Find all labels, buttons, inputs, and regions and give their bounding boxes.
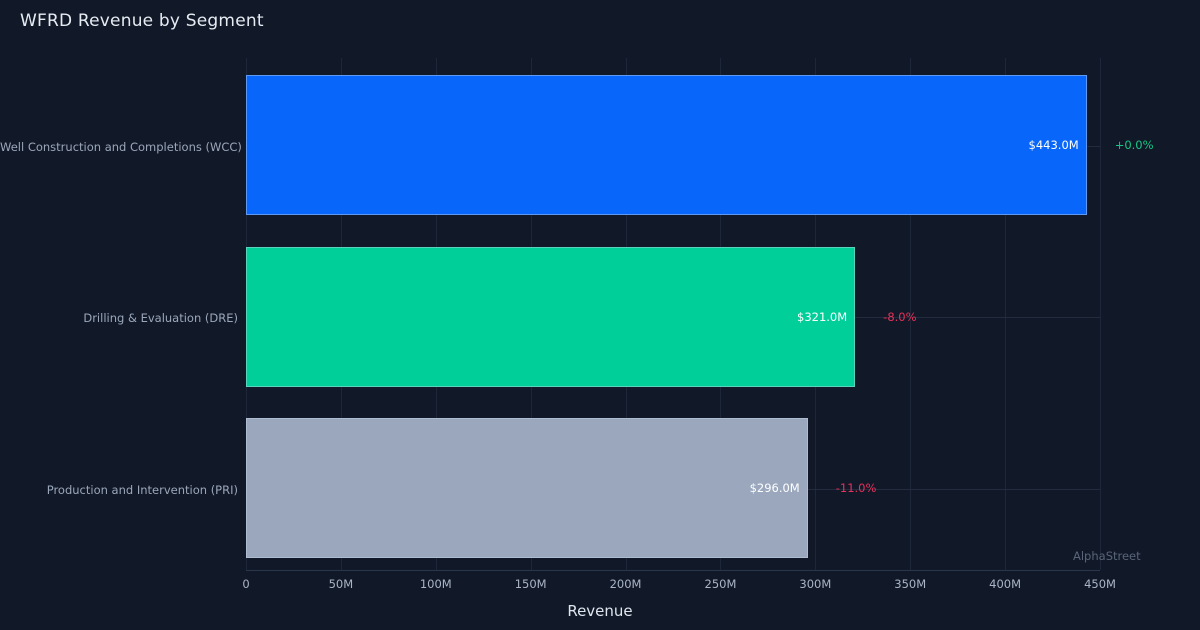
bar-change-label-2: -11.0% (836, 481, 877, 495)
watermark: AlphaStreet (1073, 549, 1141, 563)
y-axis-label-0: Well Construction and Completions (WCC) (0, 140, 238, 154)
x-tick-label-1: 50M (329, 577, 354, 591)
vertical-gridline-9 (1100, 58, 1101, 570)
x-tick-label-2: 100M (420, 577, 452, 591)
x-tick-label-7: 350M (894, 577, 926, 591)
bar-dre[interactable] (246, 247, 855, 387)
x-tick-label-5: 250M (705, 577, 737, 591)
x-tick-label-0: 0 (242, 577, 249, 591)
bar-value-label-2: $296.0M (750, 481, 800, 495)
bar-pri[interactable] (246, 418, 808, 558)
bar-change-label-1: -8.0% (883, 310, 916, 324)
bar-value-label-0: $443.0M (1029, 138, 1079, 152)
x-axis-title: Revenue (0, 602, 1200, 620)
x-tick-label-3: 150M (515, 577, 547, 591)
x-axis-line (246, 570, 1100, 571)
bar-change-label-0: +0.0% (1115, 138, 1154, 152)
y-axis-label-1: Drilling & Evaluation (DRE) (0, 311, 238, 325)
page-title: WFRD Revenue by Segment (20, 11, 264, 31)
plot-area: $443.0M +0.0% $321.0M -8.0% $296.0M -11.… (246, 58, 1100, 570)
bar-wcc[interactable] (246, 75, 1087, 215)
x-tick-label-6: 300M (799, 577, 831, 591)
x-tick-label-9: 450M (1084, 577, 1116, 591)
y-axis-label-2: Production and Intervention (PRI) (0, 483, 238, 497)
x-tick-label-8: 400M (989, 577, 1021, 591)
bar-value-label-1: $321.0M (797, 310, 847, 324)
x-tick-label-4: 200M (610, 577, 642, 591)
